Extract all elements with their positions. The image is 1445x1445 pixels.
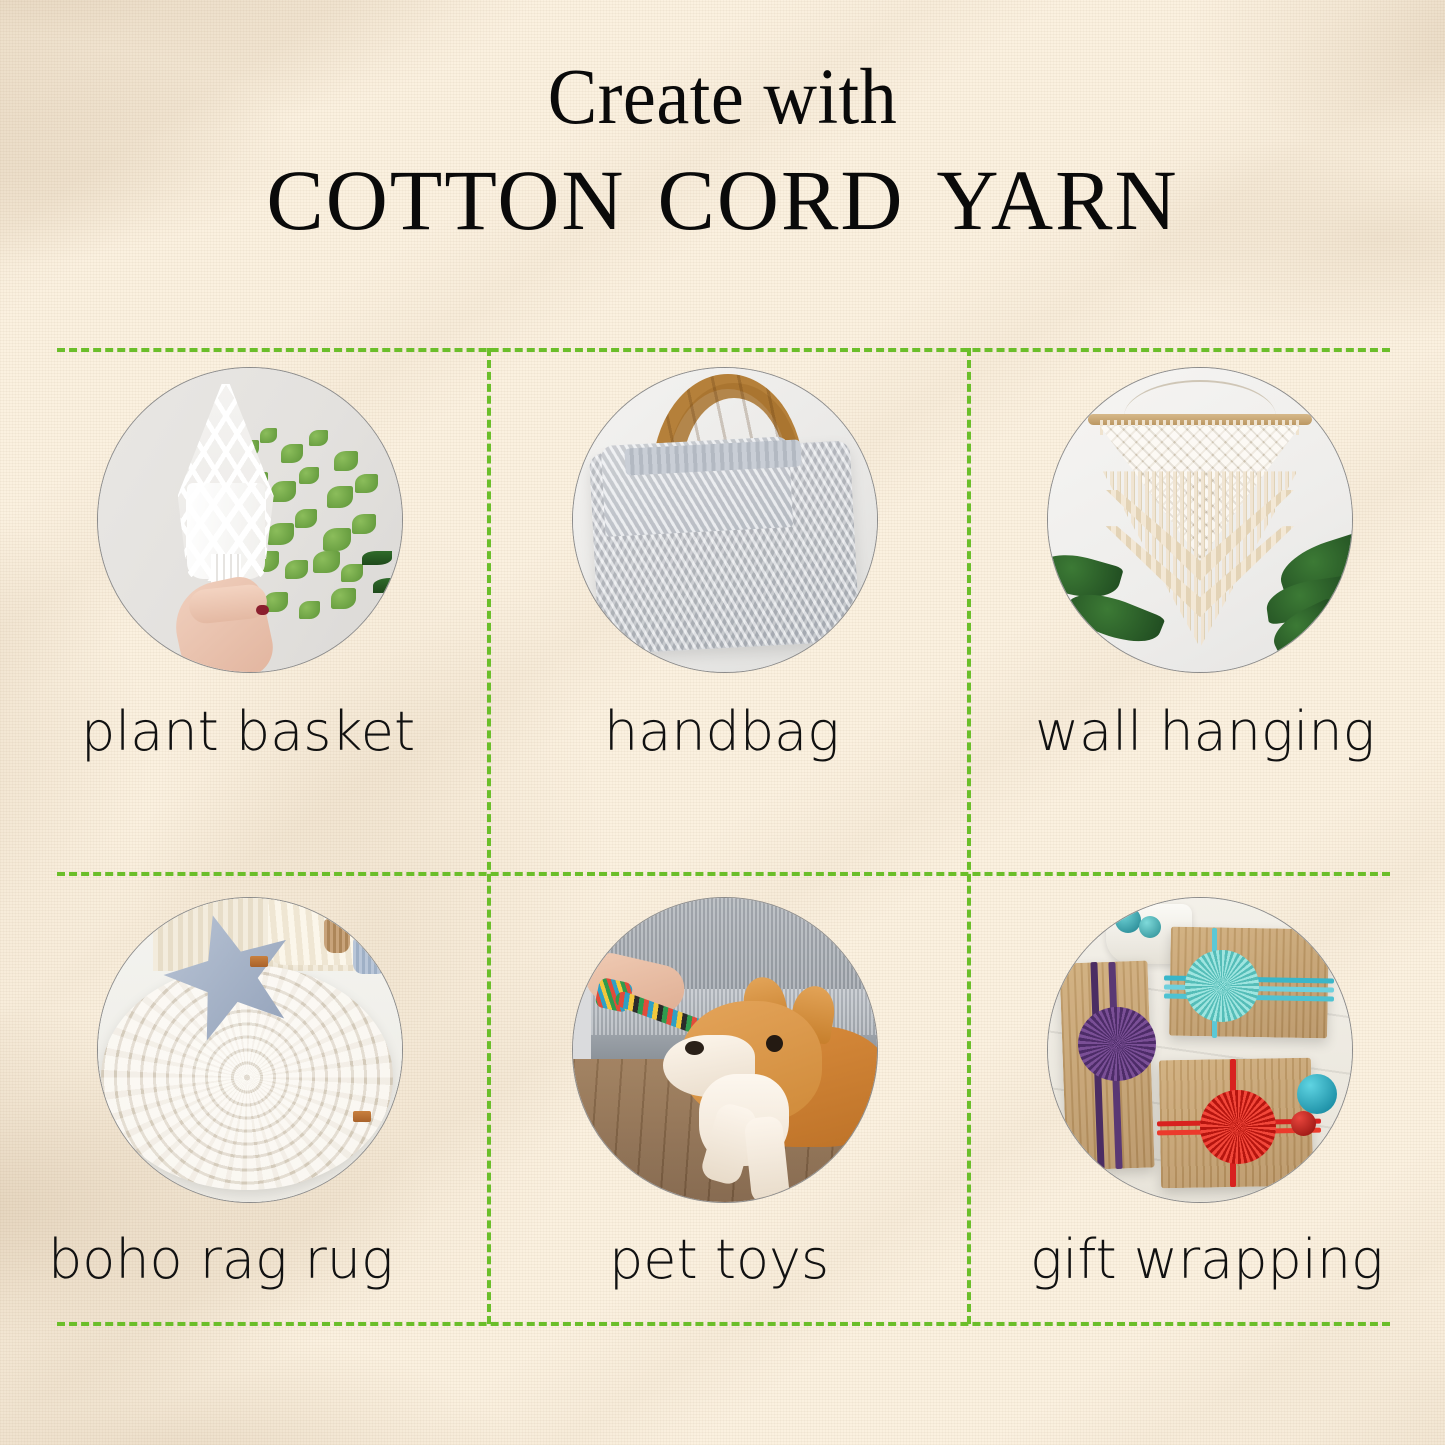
poster-canvas: Create with COTTONCORDYARN xyxy=(0,0,1445,1445)
grid-divider-bottom xyxy=(57,1322,1390,1326)
brand-tag-rug xyxy=(353,1111,371,1122)
caption-handbag: handbag xyxy=(604,700,840,763)
ornament-red xyxy=(1291,1111,1316,1136)
caption-gift-wrapping: gift wrapping xyxy=(1030,1228,1383,1291)
title-word-yarn: YARN xyxy=(936,152,1178,248)
caption-plant-basket: plant basket xyxy=(81,700,415,763)
image-boho-rag-rug xyxy=(97,897,403,1203)
image-handbag xyxy=(572,367,878,673)
caption-wall-hanging: wall hanging xyxy=(1035,700,1375,763)
title-word-cotton: COTTON xyxy=(266,152,625,248)
grid-divider-top xyxy=(57,348,1390,352)
title-line-2: COTTONCORDYARN xyxy=(0,157,1445,243)
image-gift-wrapping xyxy=(1047,897,1353,1203)
image-plant-basket xyxy=(97,367,403,673)
grid-divider-right-column xyxy=(967,348,971,1324)
pompom-red xyxy=(1200,1090,1276,1164)
ornament-teal-large xyxy=(1297,1074,1337,1114)
macrame-hanger xyxy=(189,374,263,611)
image-pet-toys xyxy=(572,897,878,1203)
brown-tassel xyxy=(324,919,350,953)
caption-pet-toys: pet toys xyxy=(609,1228,829,1291)
title-word-cord: CORD xyxy=(658,152,905,248)
blue-tassel xyxy=(353,938,387,974)
corgi-eye xyxy=(766,1035,783,1052)
pompom-teal xyxy=(1185,950,1259,1022)
title-line-1: Create with xyxy=(43,58,1401,137)
grid-divider-left-column xyxy=(487,348,491,1324)
brand-tag-star xyxy=(250,956,268,967)
image-wall-hanging xyxy=(1047,367,1353,673)
corgi-nose xyxy=(685,1041,704,1055)
caption-boho-rag-rug: boho rag rug xyxy=(48,1228,393,1291)
grid-divider-middle xyxy=(57,872,1390,876)
ornament-teal-small xyxy=(1115,907,1141,933)
poster-title: Create with COTTONCORDYARN xyxy=(0,58,1445,243)
fingernail xyxy=(256,605,269,615)
